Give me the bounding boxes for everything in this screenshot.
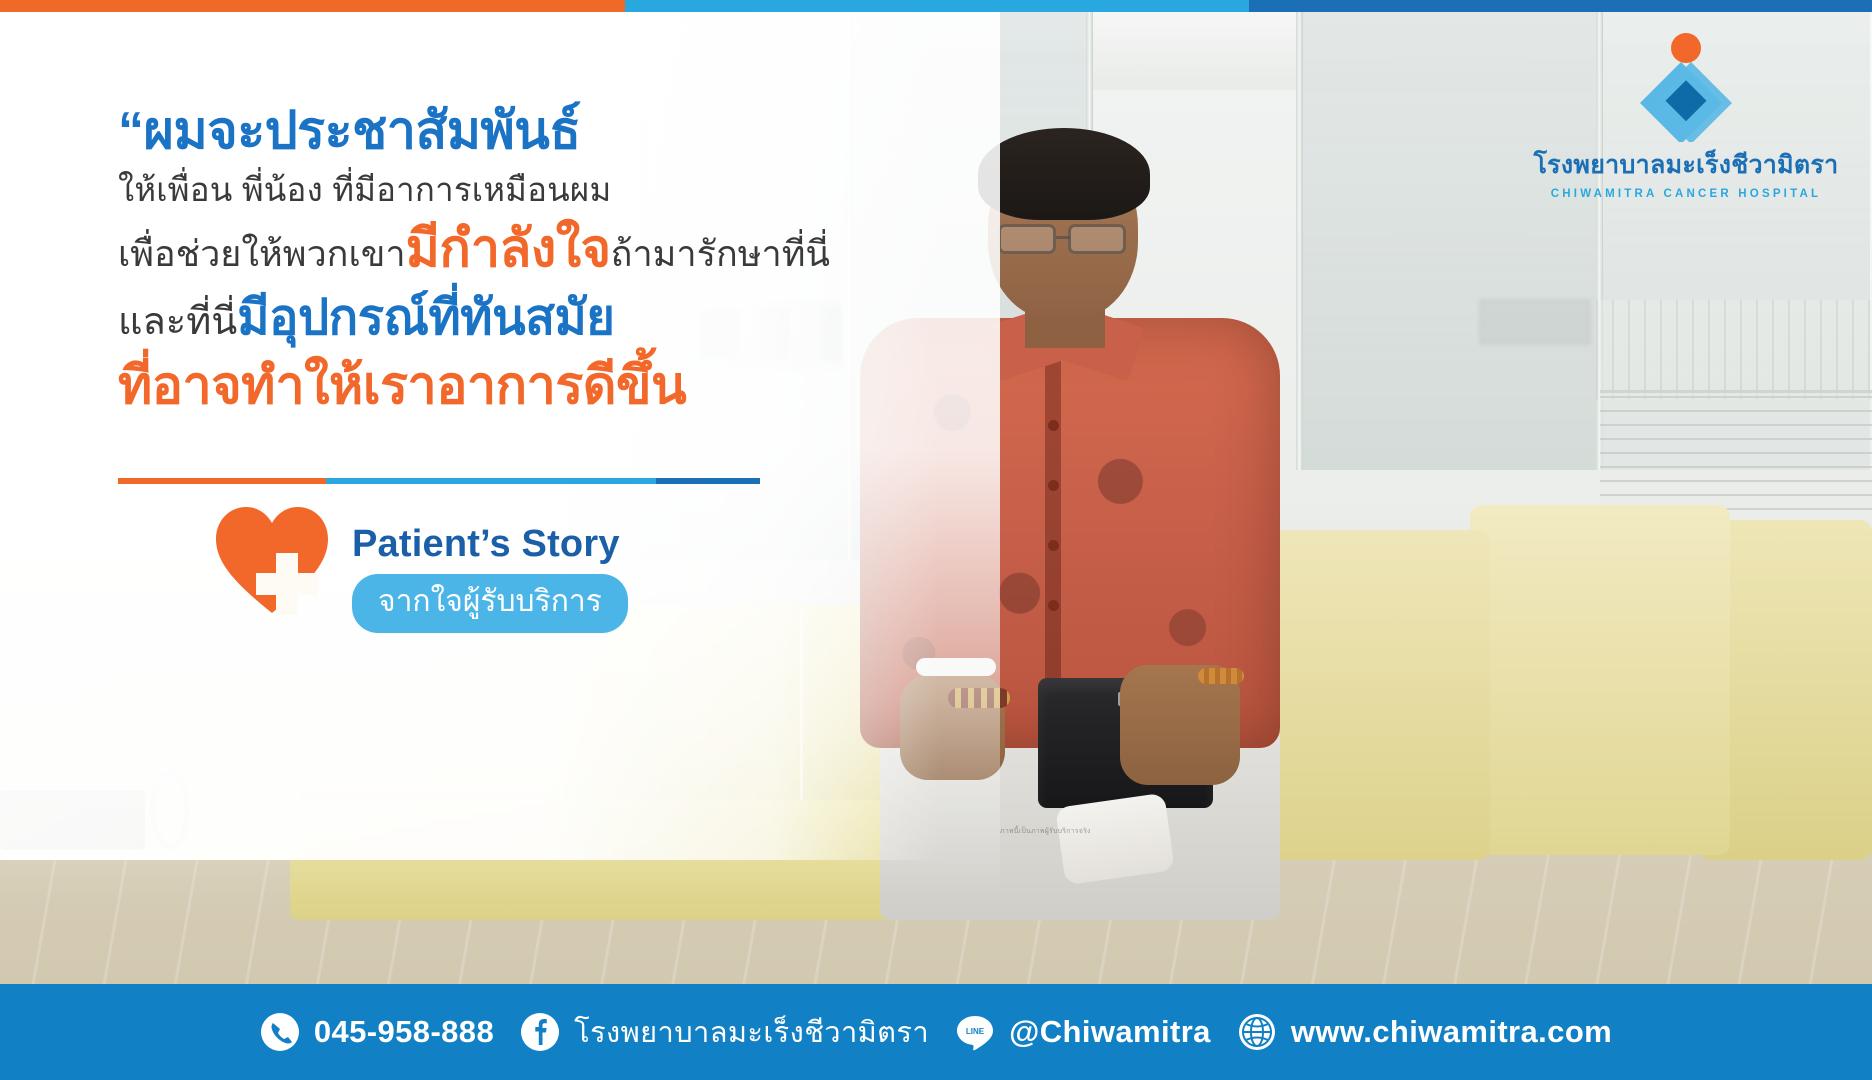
top-accent-segment-dark-blue: [1249, 0, 1872, 12]
top-accent-bar: [0, 0, 1872, 12]
line-app-icon: LINE: [955, 1012, 995, 1052]
footer-phone-item[interactable]: 045-958-888: [260, 1012, 494, 1052]
quote-line-5: ที่อาจทำให้เราอาการดีขึ้น: [118, 359, 918, 414]
blurred-signage: [1480, 300, 1590, 344]
shirt-button: [1048, 600, 1059, 611]
phone-icon: [260, 1012, 300, 1052]
quote-line-4-prefix: และที่นี่: [118, 301, 237, 343]
patient-story-badge: จากใจผู้รับบริการ: [352, 574, 628, 633]
hospital-logo: โรงพยาบาลมะเร็งชีวามิตรา CHIWAMITRA CANC…: [1526, 30, 1846, 200]
section-divider: [118, 478, 760, 484]
logo-dot-icon: [1671, 33, 1701, 63]
logo-english-name: CHIWAMITRA CANCER HOSPITAL: [1526, 188, 1846, 200]
testimonial-quote: “ผมจะประชาสัมพันธ์ ให้เพื่อน พี่น้อง ที่…: [118, 104, 918, 414]
svg-text:LINE: LINE: [966, 1027, 985, 1036]
beaded-bracelet: [1198, 668, 1244, 684]
shirt-placket: [1045, 330, 1061, 730]
shirt-button: [1048, 420, 1059, 431]
poster-canvas: ภาพนี้เป็นภาพผู้รับบริการจริง “ผมจะประชา…: [0, 0, 1872, 1080]
waiting-chair: [1470, 505, 1730, 855]
window-blinds: [1596, 300, 1872, 400]
divider-segment-dark-blue: [656, 478, 760, 484]
contact-footer-bar: 045-958-888 โรงพยาบาลมะเร็งชีวามิตรา LIN…: [0, 984, 1872, 1080]
footer-website-item[interactable]: www.chiwamitra.com: [1237, 1012, 1612, 1052]
shirt-button: [1048, 480, 1059, 491]
top-accent-segment-light-blue: [625, 0, 1248, 12]
diamond-logo-icon: [1526, 30, 1846, 142]
open-quote-mark: “: [118, 102, 144, 160]
photo-watermark: ภาพนี้เป็นภาพผู้รับบริการจริง: [1000, 826, 1150, 838]
handrail: [1600, 390, 1872, 510]
patient-story-title: Patient’s Story: [352, 523, 628, 566]
patient-hair: [978, 128, 1150, 220]
quote-line-3-prefix: เพื่อช่วยให้พวกเขา: [118, 233, 406, 274]
footer-facebook-name: โรงพยาบาลมะเร็งชีวามิตรา: [574, 1009, 929, 1055]
facebook-icon: [520, 1012, 560, 1052]
footer-line-item[interactable]: LINE @Chiwamitra: [955, 1012, 1211, 1052]
patient-story-block: Patient’s Story จากใจผู้รับบริการ: [214, 505, 628, 633]
globe-icon: [1237, 1012, 1277, 1052]
quote-line-4: และที่นี่มีอุปกรณ์ที่ทันสมัย: [118, 293, 918, 345]
quote-line-4-highlight: มีอุปกรณ์ที่ทันสมัย: [237, 291, 614, 345]
face-mask: [1055, 793, 1175, 886]
patient-story-text: Patient’s Story จากใจผู้รับบริการ: [352, 505, 628, 633]
shirt-button: [1048, 540, 1059, 551]
heart-with-cross-icon: [214, 505, 330, 615]
logo-thai-name: โรงพยาบาลมะเร็งชีวามิตรา: [1526, 145, 1846, 185]
divider-segment-light-blue: [326, 478, 656, 484]
footer-phone-number: 045-958-888: [314, 1014, 494, 1050]
eyeglasses-lens: [1068, 224, 1126, 254]
top-accent-segment-orange: [0, 0, 625, 12]
quote-line-3-suffix: ถ้ามารักษาที่นี่: [611, 233, 830, 274]
footer-facebook-item[interactable]: โรงพยาบาลมะเร็งชีวามิตรา: [520, 1009, 929, 1055]
quote-line-3: เพื่อช่วยให้พวกเขามีกำลังใจถ้ามารักษาที่…: [118, 222, 918, 277]
quote-line-1-text: ผมจะประชาสัมพันธ์: [144, 102, 581, 160]
footer-website-url: www.chiwamitra.com: [1291, 1014, 1612, 1050]
quote-line-1: “ผมจะประชาสัมพันธ์: [118, 104, 918, 159]
footer-line-id: @Chiwamitra: [1009, 1014, 1211, 1050]
divider-segment-orange: [118, 478, 326, 484]
eyeglasses-bridge: [1056, 236, 1070, 239]
quote-line-3-highlight: มีกำลังใจ: [406, 220, 611, 278]
eyeglasses-lens: [998, 224, 1056, 254]
quote-line-2: ให้เพื่อน พี่น้อง ที่มีอาการเหมือนผม: [118, 173, 918, 208]
